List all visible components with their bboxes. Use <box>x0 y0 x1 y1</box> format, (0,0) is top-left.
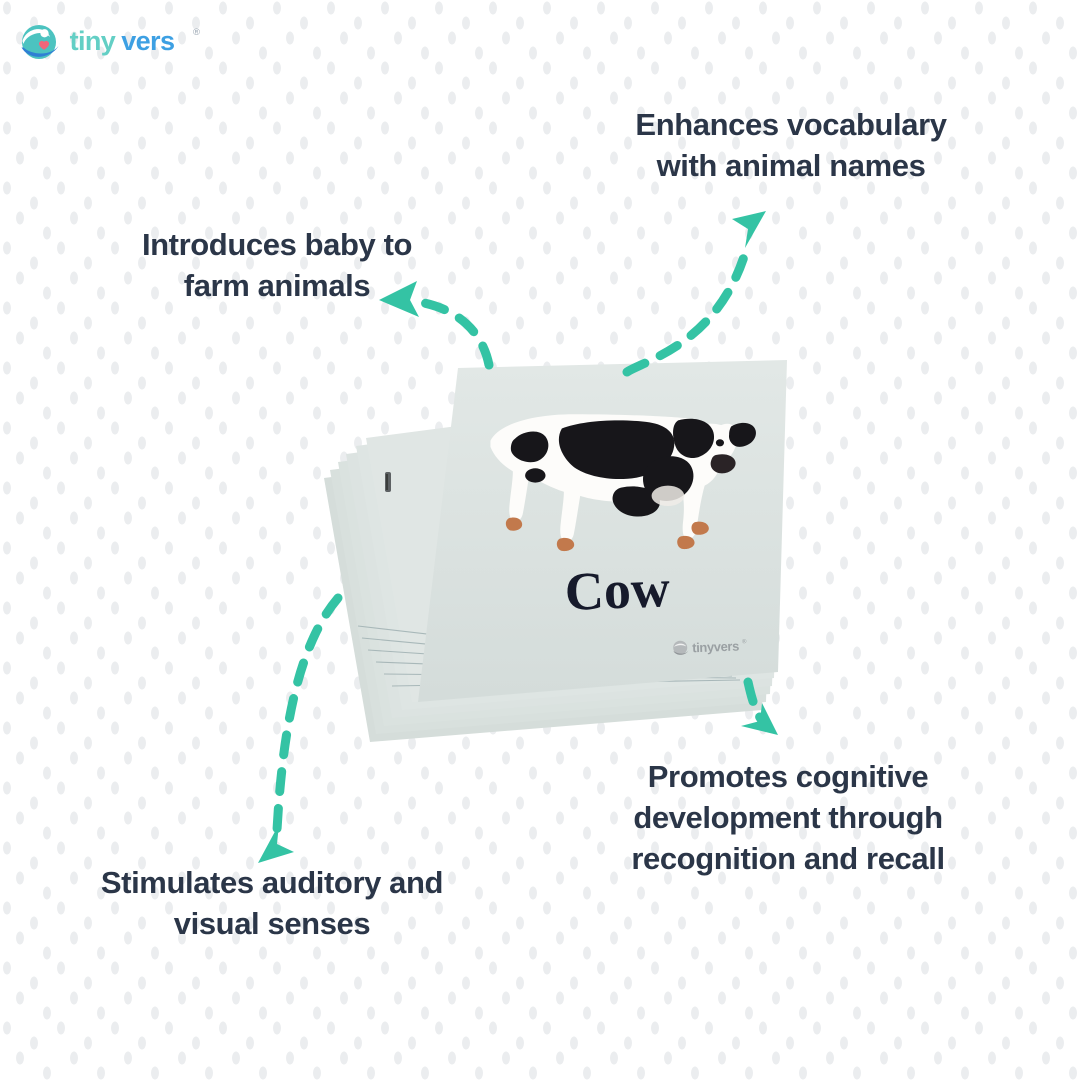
arrowhead-senses <box>258 824 294 863</box>
caption-enhances-vocabulary: Enhances vocabulary with animal names <box>586 104 996 186</box>
animal-name-label: Cow <box>564 558 671 622</box>
svg-text:tiny: tiny <box>70 25 116 56</box>
svg-text:vers: vers <box>121 25 174 56</box>
caption-stimulates-senses: Stimulates auditory and visual senses <box>52 862 492 944</box>
flashcard-stack[interactable]: Cow tinyvers ® <box>300 350 820 770</box>
svg-text:®: ® <box>193 27 200 38</box>
arrowhead-vocabulary <box>732 211 766 248</box>
brand-wordmark: tiny vers ® <box>68 25 216 59</box>
spiral-binding-icon <box>385 472 391 492</box>
baby-in-circle-heart-logo-icon <box>16 19 62 65</box>
brand-logo[interactable]: tiny vers ® <box>16 18 216 66</box>
front-flashcard[interactable]: Cow tinyvers ® <box>385 360 787 702</box>
caption-introduces-farm-animals: Introduces baby to farm animals <box>92 224 462 306</box>
infographic-canvas: tiny vers ® <box>0 0 1080 1080</box>
svg-text:tinyvers: tinyvers <box>692 638 739 655</box>
caption-promotes-cognitive-development: Promotes cognitive development through r… <box>588 756 988 880</box>
